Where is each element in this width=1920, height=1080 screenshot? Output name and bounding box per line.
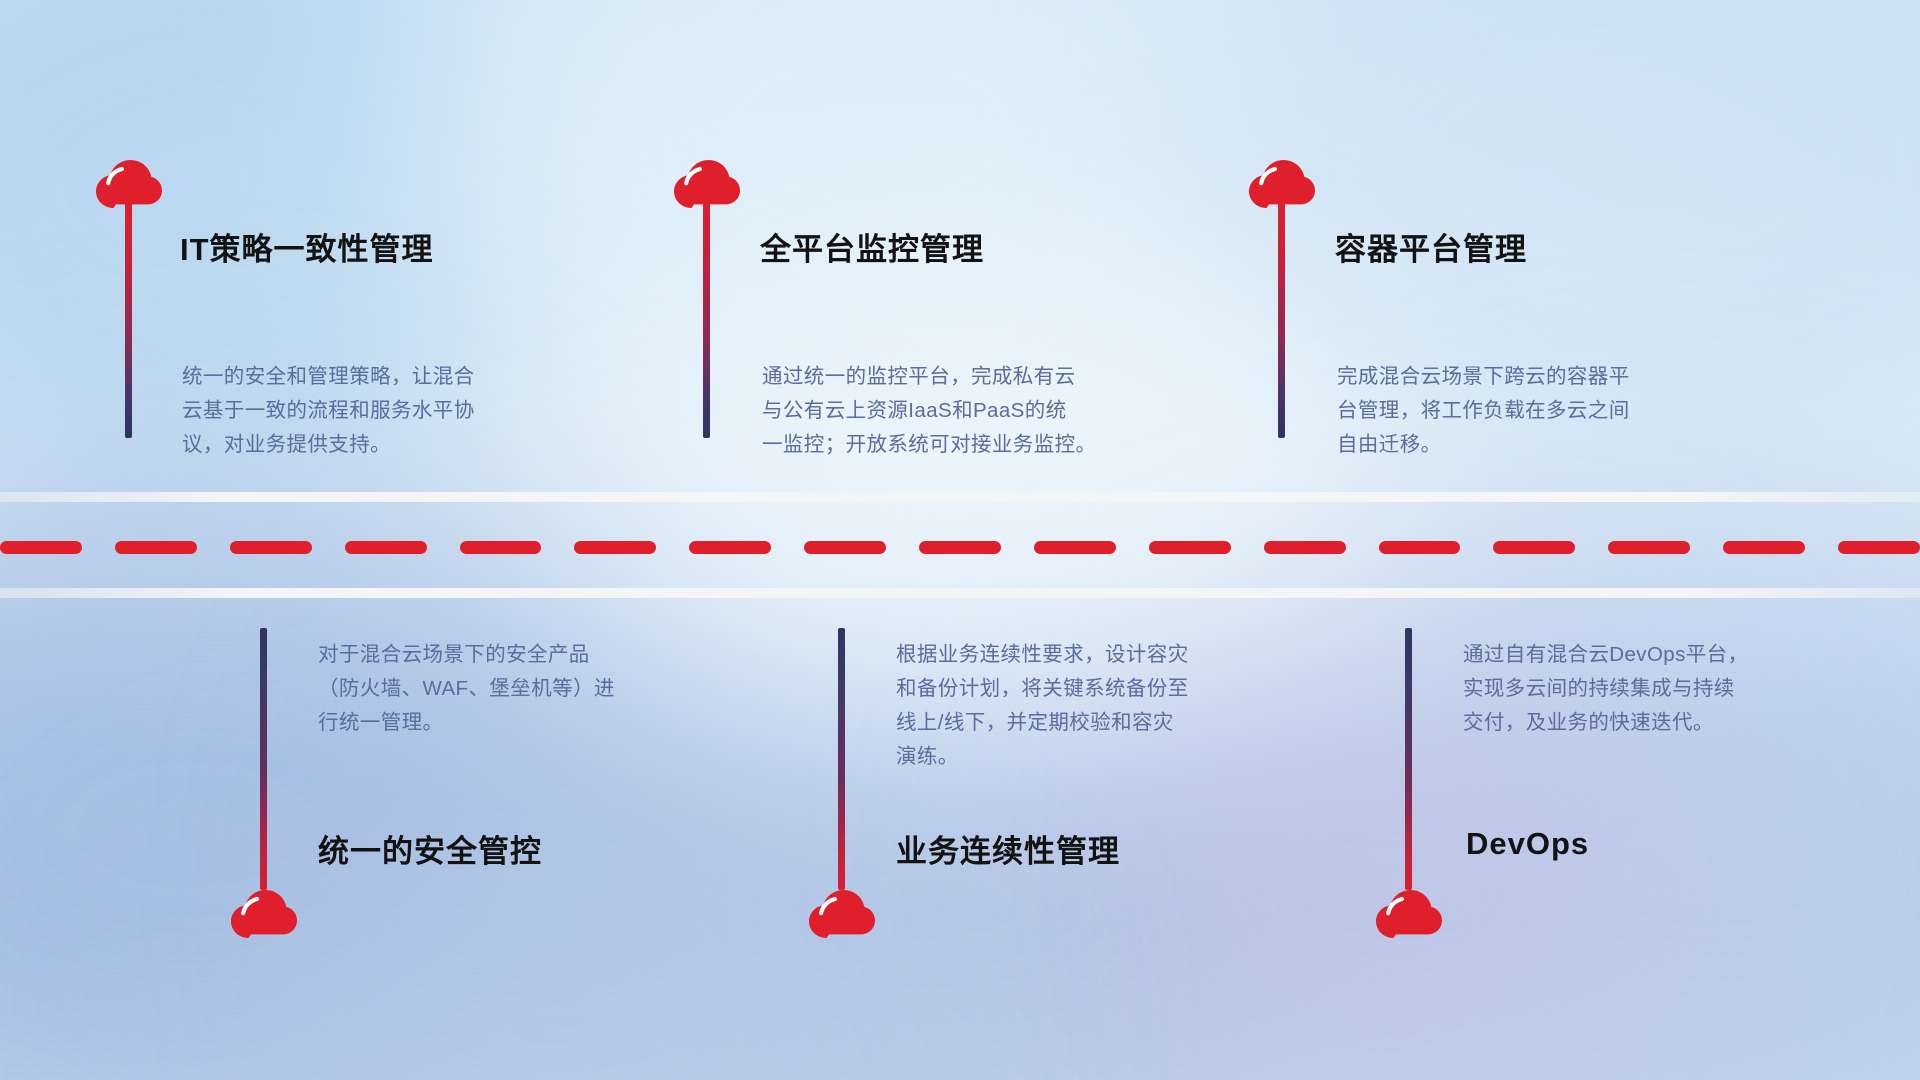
feature-description: 完成混合云场景下跨云的容器平 台管理，将工作负载在多云之间 自由迁移。 — [1337, 360, 1767, 462]
feature-description: 统一的安全和管理策略，让混合 云基于一致的流程和服务水平协 议，对业务提供支持。 — [182, 360, 612, 462]
connector-line — [1405, 628, 1412, 890]
feature-title: IT策略一致性管理 — [180, 224, 434, 269]
connector-line — [1278, 196, 1285, 438]
divider-band-top — [0, 492, 1920, 502]
feature-description: 对于混合云场景下的安全产品 （防火墙、WAF、堡垒机等）进 行统一管理。 — [318, 638, 748, 740]
divider-dashed-line — [0, 540, 1920, 554]
connector-line — [260, 628, 267, 890]
divider-dash — [574, 541, 656, 554]
divider-dash — [1034, 541, 1116, 554]
feature-title: DevOps — [1466, 826, 1589, 862]
divider-dash — [1608, 541, 1690, 554]
feature-title: 全平台监控管理 — [760, 224, 984, 269]
connector-line — [703, 196, 710, 438]
connector-line — [125, 196, 132, 438]
divider-dash — [1149, 541, 1231, 554]
divider-dash — [1838, 541, 1920, 554]
infographic-canvas: IT策略一致性管理 统一的安全和管理策略，让混合 云基于一致的流程和服务水平协 … — [0, 0, 1920, 1080]
feature-description: 通过自有混合云DevOps平台， 实现多云间的持续集成与持续 交付，及业务的快速… — [1463, 638, 1893, 740]
divider-dash — [0, 541, 82, 554]
divider-dash — [230, 541, 312, 554]
cloud-icon — [231, 890, 297, 940]
divider-dash — [1723, 541, 1805, 554]
feature-title: 容器平台管理 — [1335, 224, 1527, 269]
cloud-icon — [1376, 890, 1442, 940]
divider-dash — [115, 541, 197, 554]
divider-dash — [1264, 541, 1346, 554]
divider-dash — [1493, 541, 1575, 554]
feature-description: 根据业务连续性要求，设计容灾 和备份计划，将关键系统备份至 线上/线下，并定期校… — [896, 638, 1326, 774]
divider-dash — [460, 541, 542, 554]
divider-dash — [345, 541, 427, 554]
feature-description: 通过统一的监控平台，完成私有云 与公有云上资源IaaS和PaaS的统 一监控；开… — [762, 360, 1212, 462]
divider-dash — [919, 541, 1001, 554]
divider-band-bottom — [0, 588, 1920, 598]
feature-title: 统一的安全管控 — [318, 826, 542, 871]
connector-line — [838, 628, 845, 890]
feature-title: 业务连续性管理 — [896, 826, 1120, 871]
divider-dash — [689, 541, 771, 554]
divider-dash — [804, 541, 886, 554]
divider-dash — [1379, 541, 1461, 554]
cloud-icon — [809, 890, 875, 940]
